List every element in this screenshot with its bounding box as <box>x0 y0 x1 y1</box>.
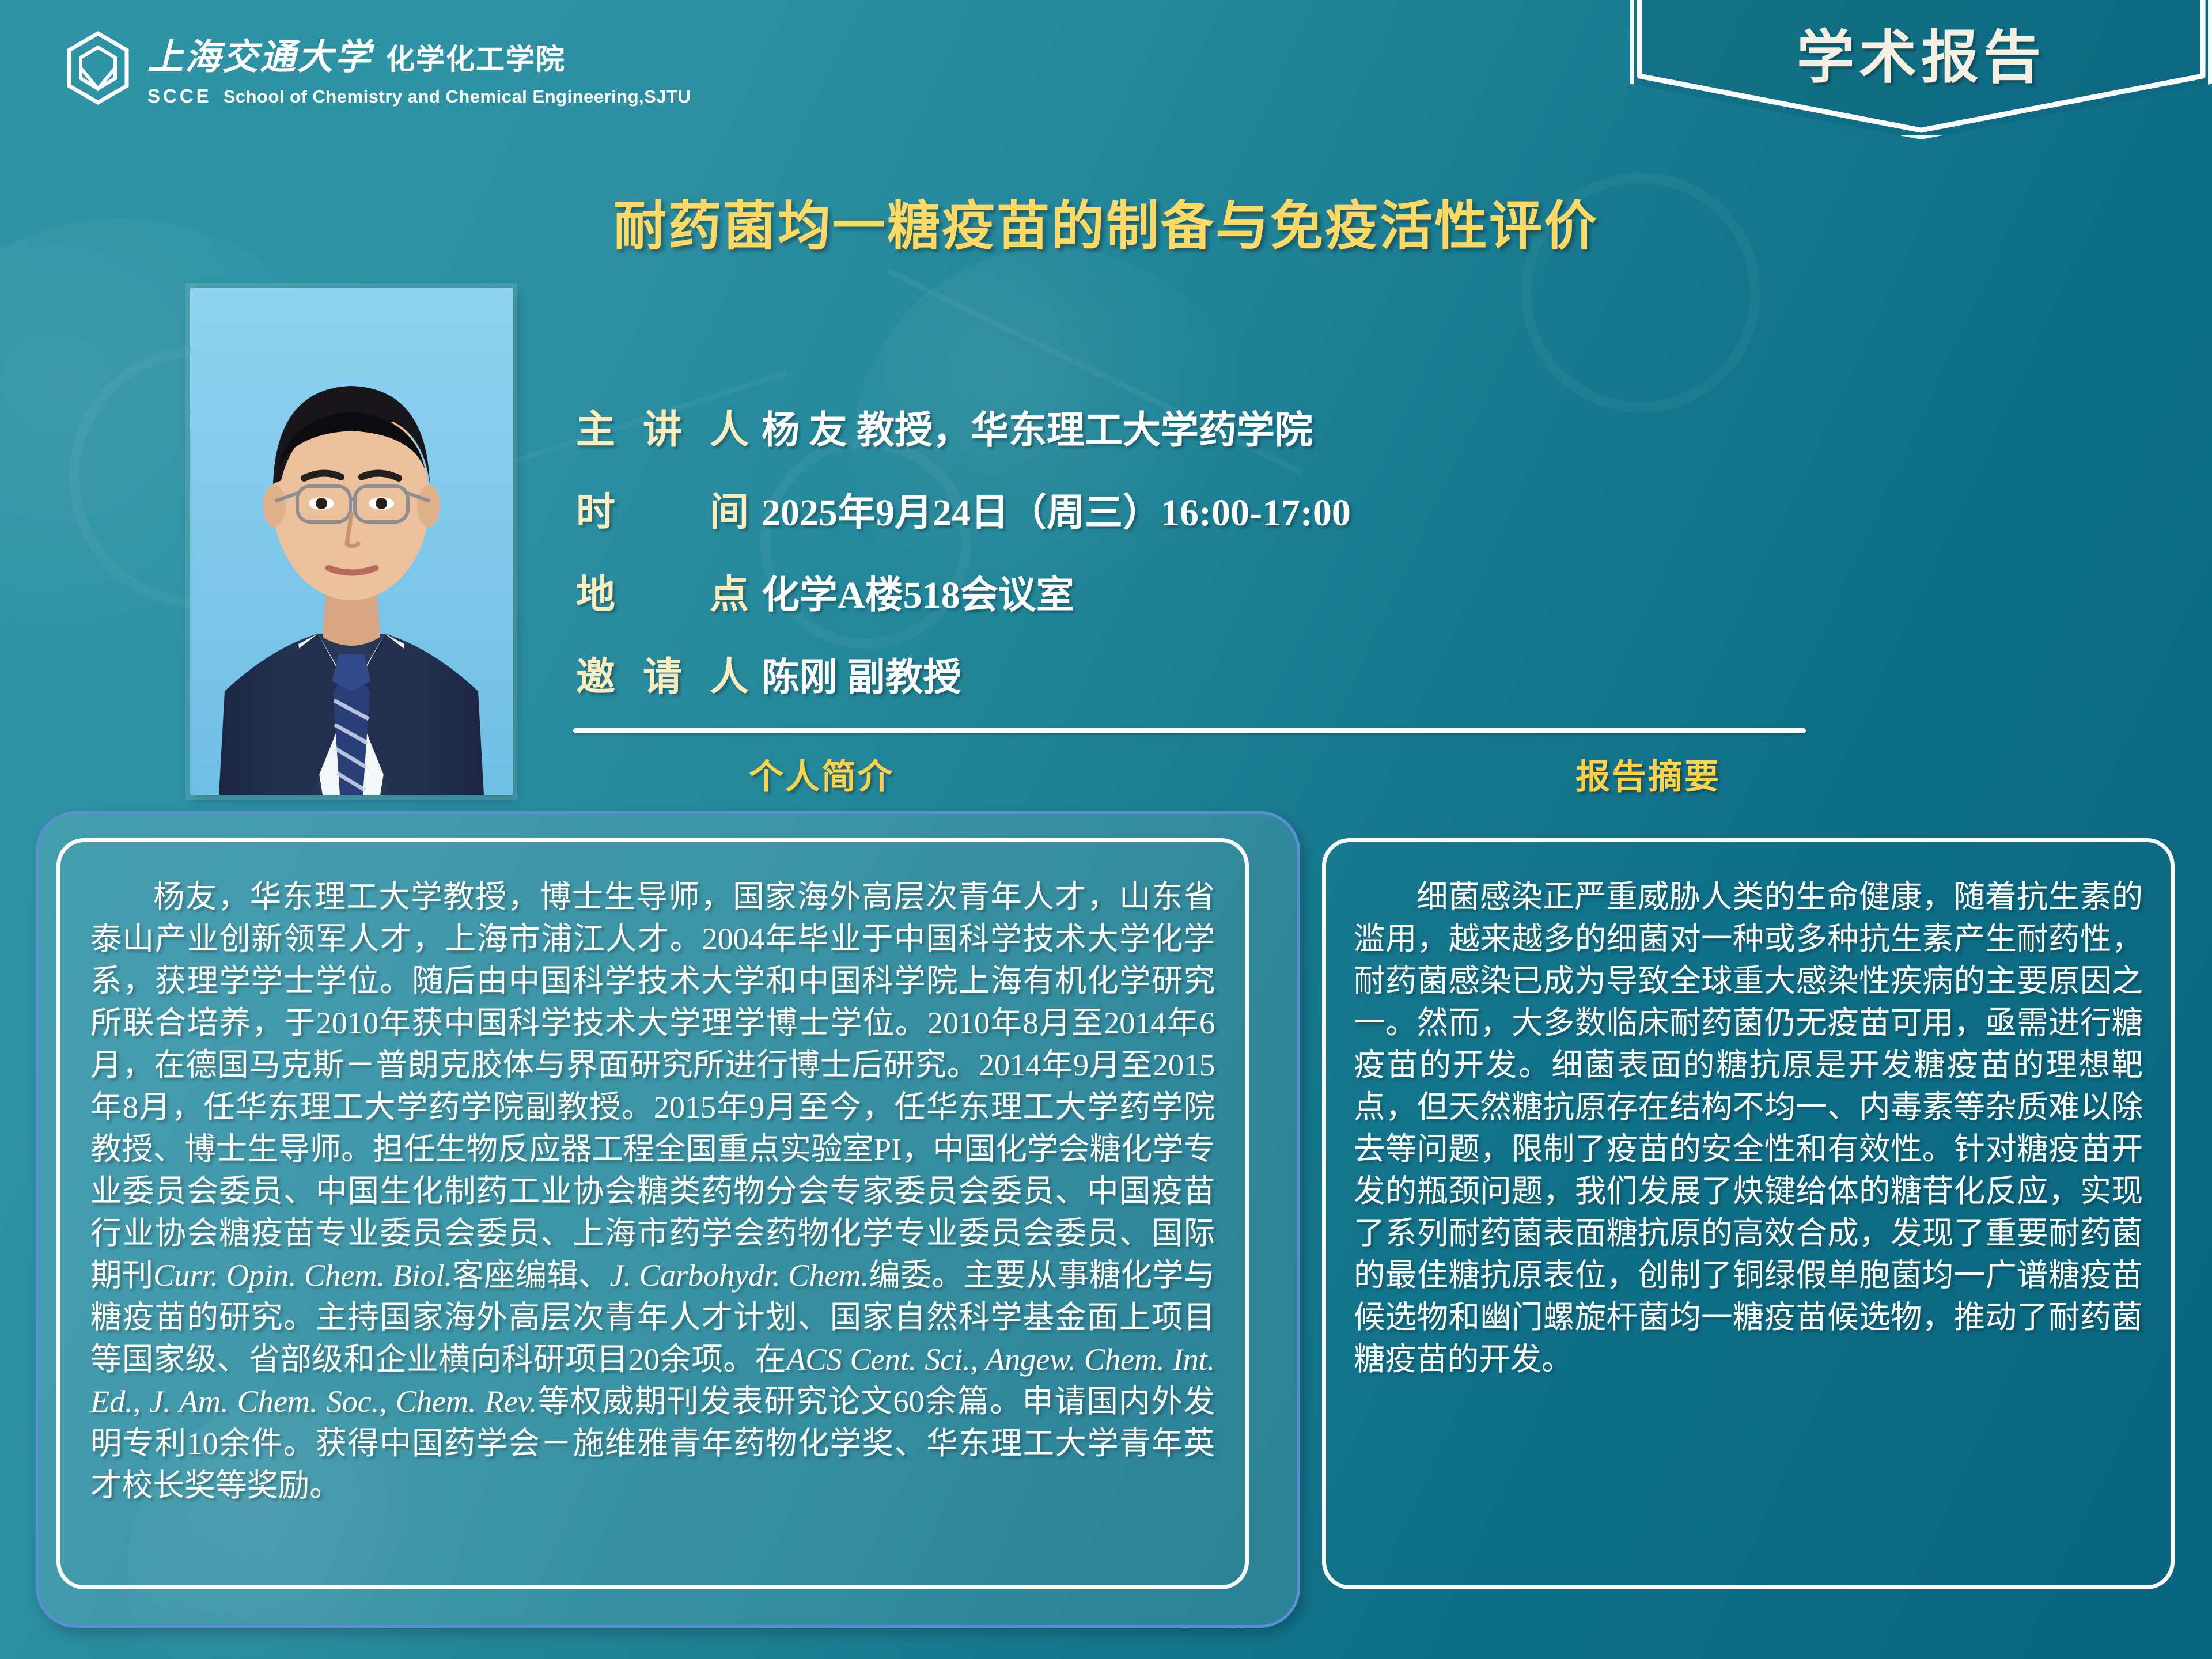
page-title: 耐药菌均一糖疫苗的制备与免疫活性评价 <box>0 183 2212 260</box>
host-label-char-2: 请 <box>643 645 682 702</box>
venue-value: 化学A楼518会议室 <box>762 564 1074 619</box>
bio-text: 杨友，华东理工大学教授，博士生导师，国家海外高层次青年人才，山东省泰山产业创新领… <box>90 876 1215 1506</box>
venue-label-char-2: 点 <box>710 562 749 619</box>
logo-school-name: 化学化工学院 <box>386 36 566 78</box>
host-value: 陈刚 副教授 <box>762 646 961 702</box>
logo-abbreviation: SCCE <box>147 85 212 107</box>
abstract-section-heading: 报告摘要 <box>1575 749 1721 799</box>
logo-university-name: 上海交通大学 <box>147 28 372 79</box>
host-label-char-1: 邀 <box>576 645 615 702</box>
logo-school-english: School of Chemistry and Chemical Enginee… <box>224 86 691 107</box>
abstract-panel: 细菌感染正严重威胁人类的生命健康，随着抗生素的滥用，越来越多的细菌对一种或多种抗… <box>1322 838 2175 1589</box>
abstract-text: 细菌感染正严重威胁人类的生命健康，随着抗生素的滥用，越来越多的细菌对一种或多种抗… <box>1354 876 2143 1380</box>
event-details: 主 讲 人 杨 友 教授，华东理工大学药学院 时 间 2025年9月24日（周三… <box>576 397 1832 727</box>
speaker-label: 主 讲 人 <box>576 397 749 454</box>
speaker-portrait-image <box>190 288 513 795</box>
venue-label-char-1: 地 <box>576 562 615 619</box>
info-row-venue: 地 点 化学A楼518会议室 <box>576 562 1832 619</box>
time-label-char-2: 间 <box>710 480 749 537</box>
speaker-label-char-1: 主 <box>576 397 615 454</box>
host-label: 邀 请 人 <box>576 645 749 702</box>
info-row-time: 时 间 2025年9月24日（周三）16:00-17:00 <box>576 480 1832 537</box>
ribbon-label: 学术报告 <box>1630 10 2212 94</box>
speaker-value: 杨 友 教授，华东理工大学药学院 <box>762 399 1313 454</box>
speaker-label-char-3: 人 <box>710 397 749 454</box>
venue-label: 地 点 <box>576 562 749 619</box>
time-label: 时 间 <box>576 480 749 537</box>
speaker-portrait <box>190 288 513 795</box>
bio-section-heading: 个人简介 <box>749 749 894 799</box>
time-value: 2025年9月24日（周三）16:00-17:00 <box>762 482 1351 537</box>
host-label-char-3: 人 <box>710 645 749 702</box>
speaker-label-char-2: 讲 <box>643 397 682 454</box>
info-row-speaker: 主 讲 人 杨 友 教授，华东理工大学药学院 <box>576 397 1832 454</box>
scce-hexagon-icon <box>63 30 132 106</box>
academic-report-ribbon: 学术报告 <box>1630 0 2212 139</box>
horizontal-divider <box>573 728 1806 733</box>
time-label-char-1: 时 <box>576 480 615 537</box>
sjtu-scce-logo: 上海交通大学 化学化工学院 SCCE School of Chemistry a… <box>63 28 691 107</box>
info-row-host: 邀 请 人 陈刚 副教授 <box>576 645 1832 702</box>
seminar-poster: 上海交通大学 化学化工学院 SCCE School of Chemistry a… <box>0 0 2212 1659</box>
bio-panel: 杨友，华东理工大学教授，博士生导师，国家海外高层次青年人才，山东省泰山产业创新领… <box>56 838 1249 1589</box>
